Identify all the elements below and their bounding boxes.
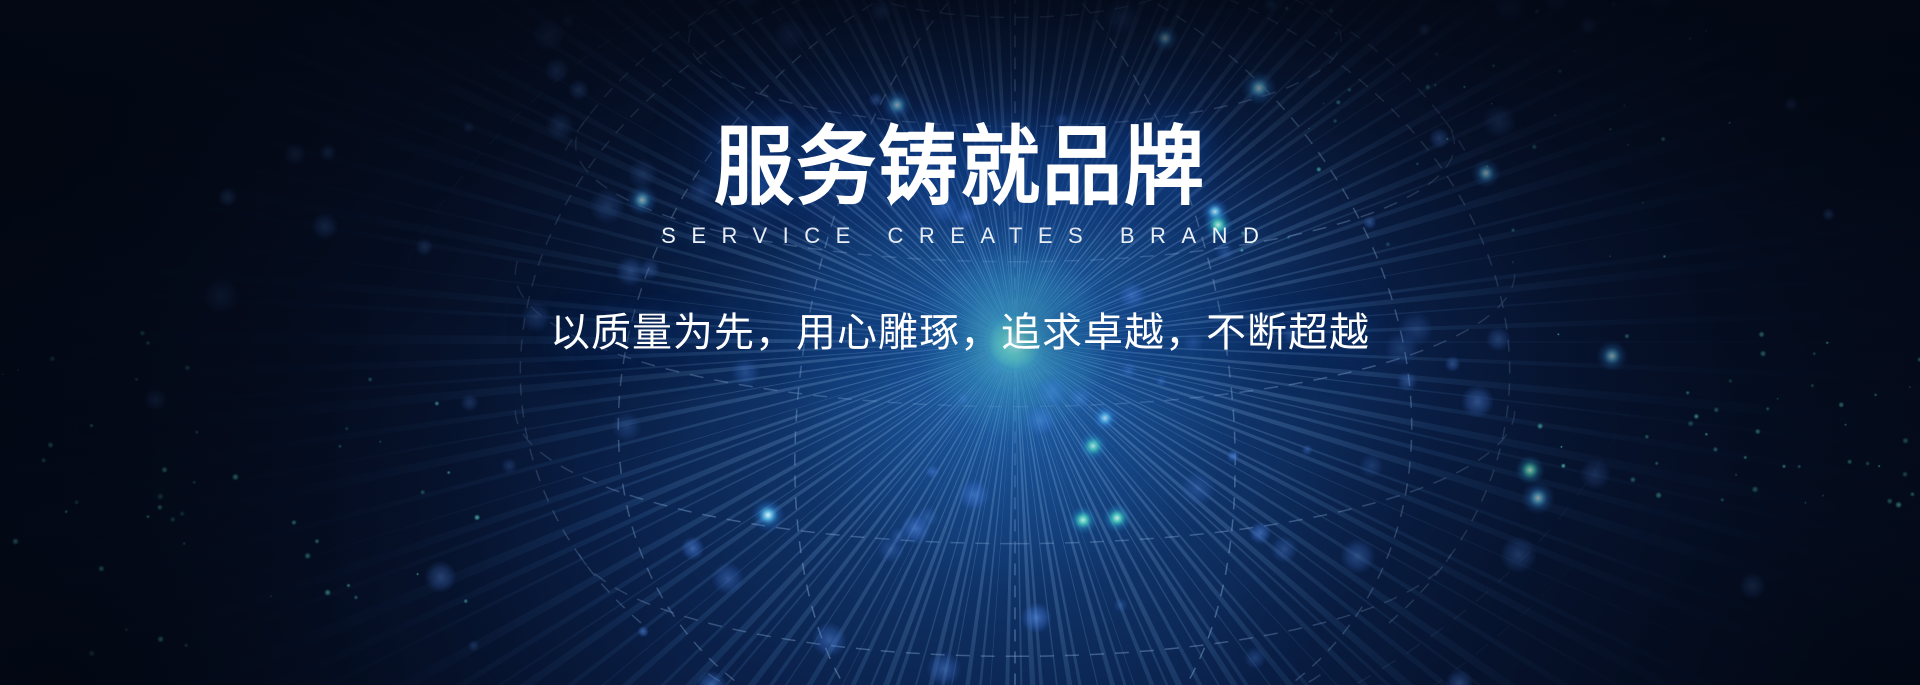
- hero-banner: 服务铸就品牌 SERVICE CREATES BRAND 以质量为先，用心雕琢，…: [0, 0, 1920, 685]
